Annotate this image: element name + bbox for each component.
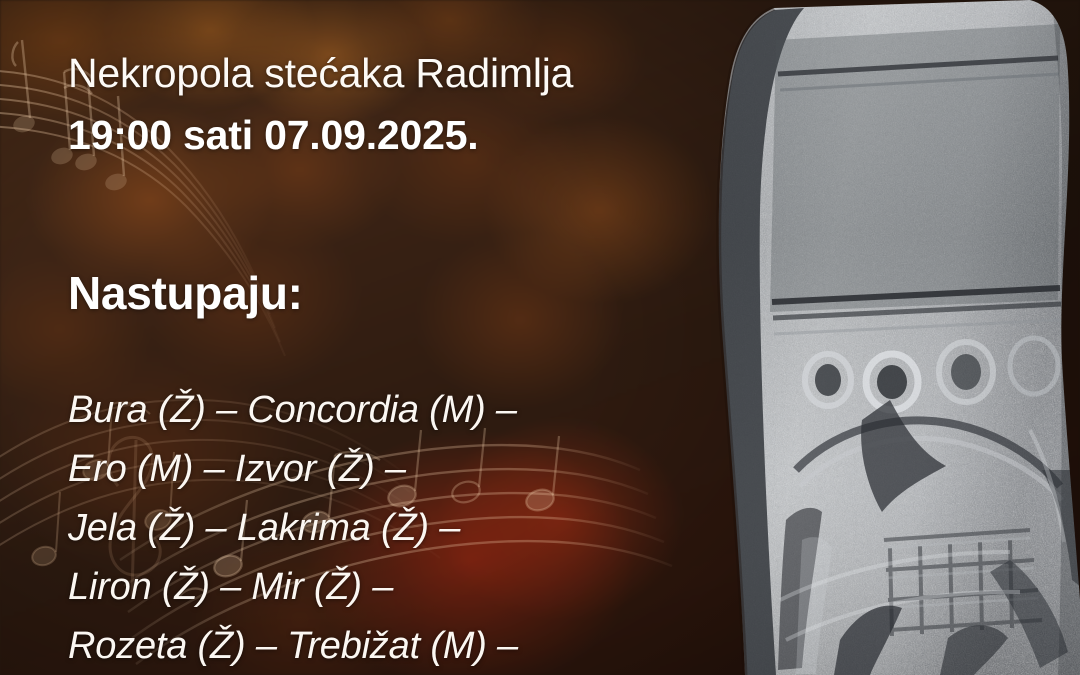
poster-text: Nekropola stećaka Radimlja 19:00 sati 07… bbox=[0, 0, 640, 675]
lineup-line: Ero (M) – Izvor (Ž) – bbox=[68, 440, 628, 499]
lineup-line: Liron (Ž) – Mir (Ž) – bbox=[68, 558, 628, 617]
venue-title: Nekropola stećaka Radimlja bbox=[68, 50, 573, 97]
stecak-stone-icon bbox=[590, 0, 1080, 675]
lineup-line: Rozeta (Ž) – Trebižat (M) – bbox=[68, 617, 628, 675]
stecak-stone-image bbox=[590, 0, 1080, 675]
event-poster: Nekropola stećaka Radimlja 19:00 sati 07… bbox=[0, 0, 1080, 675]
lineup-heading: Nastupaju: bbox=[68, 266, 303, 320]
event-datetime: 19:00 sati 07.09.2025. bbox=[68, 112, 479, 159]
lineup-line: Bura (Ž) – Concordia (M) – bbox=[68, 381, 628, 440]
lineup-line: Jela (Ž) – Lakrima (Ž) – bbox=[68, 499, 628, 558]
lineup-list: Bura (Ž) – Concordia (M) – Ero (M) – Izv… bbox=[68, 381, 628, 675]
